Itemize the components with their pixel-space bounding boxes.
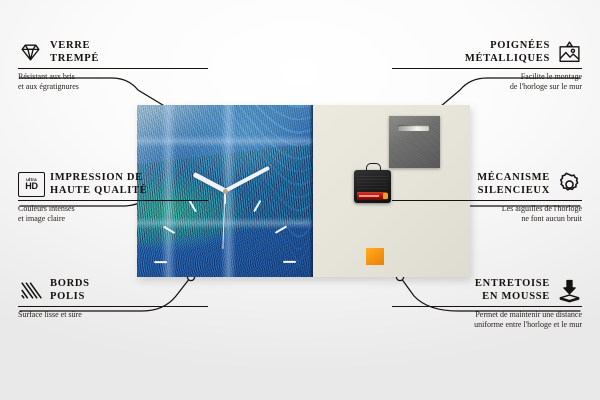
callout-divider: [18, 306, 208, 307]
clock-mechanism: [354, 168, 391, 203]
callout-header: ENTRETOISE EN MOUSSE: [392, 278, 582, 303]
diamond-icon: [18, 40, 43, 65]
press-down-arrow-icon: [557, 278, 582, 303]
battery-positive-cap: [383, 193, 388, 199]
ultra-hd-badge-large-text: HD: [25, 182, 38, 191]
callout-divider: [392, 306, 582, 307]
callout-title: VERRE TREMPÉ: [50, 40, 99, 65]
callout-mecanisme-silencieux: MÉCANISME SILENCIEUX Les aiguilles de l'…: [392, 172, 582, 224]
callout-header: MÉCANISME SILENCIEUX: [392, 172, 582, 197]
ultra-hd-badge: ultra HD: [18, 172, 45, 197]
callout-title: ENTRETOISE EN MOUSSE: [475, 278, 550, 303]
polished-edges-icon: [18, 278, 43, 303]
callout-poignees-metalliques: POIGNÉES MÉTALLIQUES Facilite le montage…: [392, 40, 582, 92]
callout-description: Permet de maintenir une distance uniform…: [392, 310, 582, 330]
hanger-plate: [389, 116, 440, 168]
mechanism-battery: [357, 192, 387, 200]
clock-tick: [154, 261, 167, 263]
callout-description: Résistant aux bris et aux égratignures: [18, 72, 208, 92]
callout-description: Facilite le montage de l'horloge sur le …: [392, 72, 582, 92]
callout-title: BORDS POLIS: [50, 278, 90, 303]
callout-description: Couleurs intenses et image claire: [18, 204, 208, 224]
hanger-plate-slot: [398, 125, 429, 131]
callout-title: POIGNÉES MÉTALLIQUES: [465, 40, 550, 65]
foam-spacer-pad: [366, 248, 384, 265]
callout-header: ultra HD IMPRESSION DE HAUTE QUALITÉ: [18, 172, 208, 197]
glass-reflection-horizontal-1: [137, 135, 313, 147]
callout-header: VERRE TREMPÉ: [18, 40, 208, 65]
ultra-hd-icon: ultra HD: [18, 172, 43, 197]
foam-spacer: [366, 248, 384, 265]
callout-entretoise-en-mousse: ENTRETOISE EN MOUSSE Permet de maintenir…: [392, 278, 582, 330]
callout-header: BORDS POLIS: [18, 278, 208, 303]
infographic-canvas: VERRE TREMPÉ Résistant aux bris et aux é…: [0, 0, 600, 400]
callout-description: Surface lisse et sûre: [18, 310, 208, 320]
clock-hand-pivot: [223, 189, 228, 194]
callout-divider: [392, 68, 582, 69]
callout-impression-hd: ultra HD IMPRESSION DE HAUTE QUALITÉ Cou…: [18, 172, 208, 224]
callout-header: POIGNÉES MÉTALLIQUES: [392, 40, 582, 65]
callout-divider: [18, 200, 208, 201]
gear-icon: [557, 172, 582, 197]
callout-title: MÉCANISME SILENCIEUX: [477, 172, 550, 197]
clock-tick: [283, 261, 296, 263]
callout-title: IMPRESSION DE HAUTE QUALITÉ: [50, 172, 148, 197]
mechanism-body: [354, 170, 391, 203]
callout-verre-trempe: VERRE TREMPÉ Résistant aux bris et aux é…: [18, 40, 208, 92]
callout-description: Les aiguilles de l'horloge ne font aucun…: [392, 204, 582, 224]
wall-hanging-frame-icon: [557, 40, 582, 65]
battery-label-bar: [359, 195, 379, 197]
callout-divider: [392, 200, 582, 201]
callout-divider: [18, 68, 208, 69]
callout-bords-polis: BORDS POLIS Surface lisse et sûre: [18, 278, 208, 320]
